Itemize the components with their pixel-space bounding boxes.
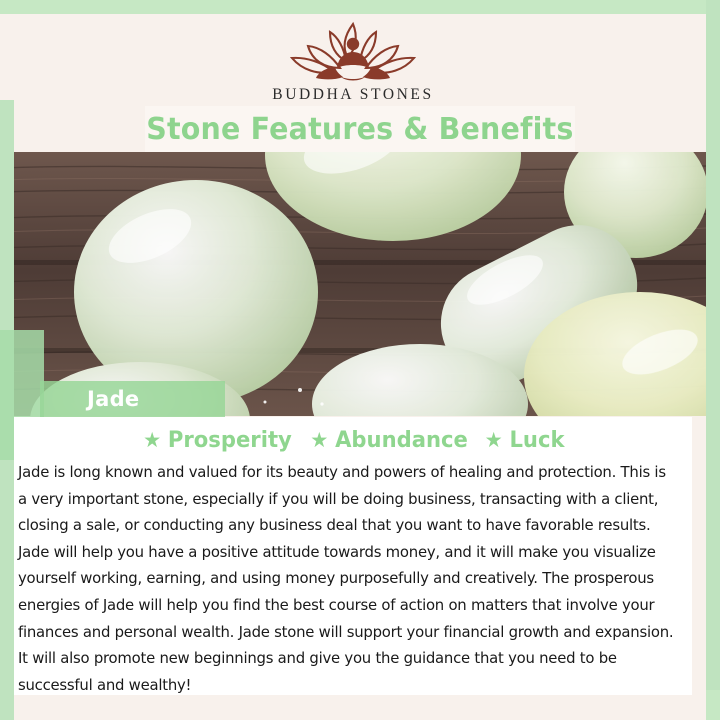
star-icon: ★ [310, 430, 328, 451]
keyword-label: Abundance [335, 428, 468, 453]
right-green-accent-strip [706, 0, 720, 690]
keyword-item-luck: ★ Luck [485, 428, 565, 453]
stone-photo-illustration [0, 152, 706, 416]
keyword-list: ★ Prosperity ★ Abundance ★ Luck [14, 423, 692, 457]
stone-name-band: Jade [40, 381, 225, 417]
keyword-label: Luck [509, 428, 564, 453]
lotus-meditation-icon [278, 18, 428, 84]
keyword-item-abundance: ★ Abundance [310, 428, 468, 453]
content-panel: ★ Prosperity ★ Abundance ★ Luck Jade is … [14, 417, 692, 695]
description-text: Jade is long known and valued for its be… [18, 459, 678, 698]
stone-photo [0, 152, 706, 416]
brand-name: BUDDHA STONES [272, 86, 433, 104]
star-icon: ★ [143, 430, 161, 451]
star-icon: ★ [485, 430, 503, 451]
page-title: Stone Features & Benefits [146, 112, 573, 147]
keyword-item-prosperity: ★ Prosperity [143, 428, 292, 453]
title-banner: Stone Features & Benefits [145, 106, 575, 152]
keyword-label: Prosperity [168, 428, 292, 453]
stone-name-label: Jade [87, 387, 139, 411]
brand-logo-block: BUDDHA STONES [0, 14, 706, 106]
poster-root: BUDDHA STONES Stone Features & Benefits [0, 0, 720, 720]
